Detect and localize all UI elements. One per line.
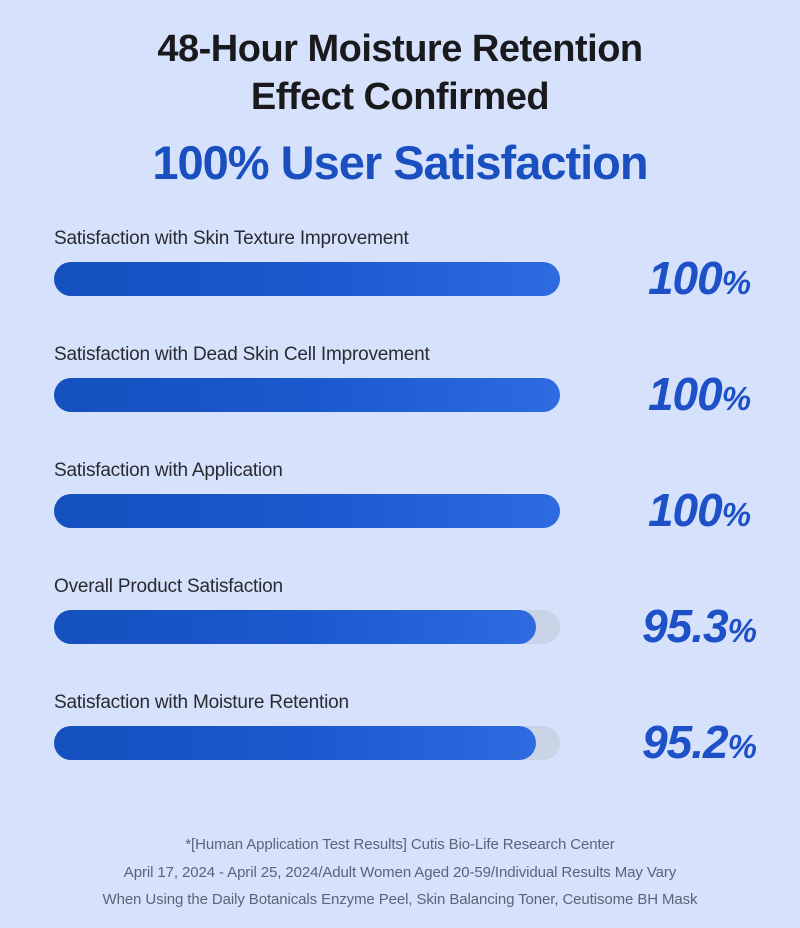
bar-fill bbox=[54, 262, 560, 296]
bar-row: Satisfaction with Skin Texture Improveme… bbox=[54, 229, 760, 345]
bar-value-number: 95.3 bbox=[642, 600, 728, 652]
header: 48-Hour Moisture Retention Effect Confir… bbox=[0, 0, 800, 189]
percent-sign: % bbox=[722, 496, 750, 533]
bar-value: 100% bbox=[594, 487, 800, 533]
footnote-line-1: *[Human Application Test Results] Cutis … bbox=[0, 831, 800, 859]
page-title-line-2: Effect Confirmed bbox=[90, 74, 710, 122]
bar-fill bbox=[54, 726, 536, 760]
bar-fill bbox=[54, 494, 560, 528]
percent-sign: % bbox=[728, 612, 756, 649]
footnote-line-3: When Using the Daily Botanicals Enzyme P… bbox=[0, 886, 800, 914]
bar-value-number: 100 bbox=[648, 484, 722, 536]
percent-sign: % bbox=[722, 380, 750, 417]
headline-satisfaction: 100% User Satisfaction bbox=[0, 137, 800, 189]
bar-value: 100% bbox=[594, 255, 800, 301]
bar-row: Overall Product Satisfaction 95.3% bbox=[54, 577, 760, 693]
bar-value-number: 100 bbox=[648, 252, 722, 304]
bar-fill bbox=[54, 610, 536, 644]
page-title-line-1: 48-Hour Moisture Retention bbox=[90, 26, 710, 74]
bar-fill bbox=[54, 378, 560, 412]
bar-row: Satisfaction with Moisture Retention 95.… bbox=[54, 693, 760, 805]
page-title: 48-Hour Moisture Retention Effect Confir… bbox=[90, 26, 710, 121]
bar-value: 95.2% bbox=[594, 719, 800, 765]
footnote-line-2: April 17, 2024 - April 25, 2024/Adult Wo… bbox=[0, 859, 800, 887]
bar-track bbox=[54, 610, 560, 644]
bar-value-number: 95.2 bbox=[642, 716, 728, 768]
bar-row: Satisfaction with Dead Skin Cell Improve… bbox=[54, 345, 760, 461]
percent-sign: % bbox=[728, 728, 756, 765]
satisfaction-bar-chart: Satisfaction with Skin Texture Improveme… bbox=[0, 229, 800, 805]
bar-track bbox=[54, 378, 560, 412]
bar-value: 100% bbox=[594, 371, 800, 417]
footnote: *[Human Application Test Results] Cutis … bbox=[0, 831, 800, 914]
percent-sign: % bbox=[722, 264, 750, 301]
bar-value: 95.3% bbox=[594, 603, 800, 649]
bar-track bbox=[54, 726, 560, 760]
bar-value-number: 100 bbox=[648, 368, 722, 420]
bar-row: Satisfaction with Application 100% bbox=[54, 461, 760, 577]
bar-track bbox=[54, 494, 560, 528]
bar-track bbox=[54, 262, 560, 296]
